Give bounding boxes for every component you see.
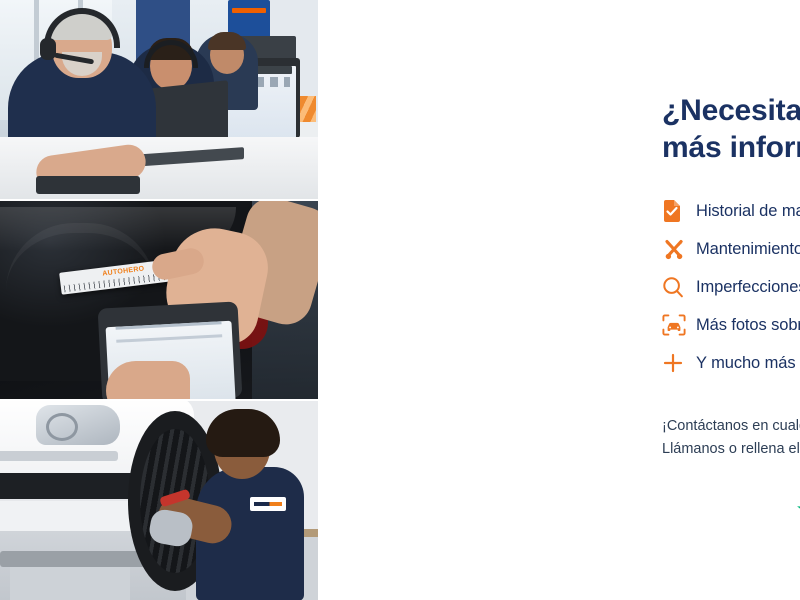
content-panel: ¿Necesitas más información? Estamos enca… <box>318 0 800 600</box>
magnifier-icon <box>662 276 696 298</box>
tools-icon <box>662 237 696 261</box>
photo-column: AUTOHERO <box>0 0 318 600</box>
photo-mechanic-inspecting-tire-on-lift <box>0 401 318 600</box>
feature-item-label: Mantenimiento realizado <box>696 240 800 259</box>
feature-item-y-mucho-mas: Y mucho más <box>662 344 800 382</box>
feature-list: Historial de mantenimientos M <box>662 192 800 382</box>
contact-line-1: ¡Contáctanos en cualquier momento para m… <box>662 415 800 438</box>
feature-item-label: Más fotos sobre el coche <box>696 316 800 335</box>
feature-item-label: Y mucho más <box>696 354 795 373</box>
trustpilot-widget[interactable]: Trustpilot Excelente EMPRESA VERIFICA <box>796 483 800 555</box>
autohero-polo-logo <box>250 497 286 511</box>
trustpilot-logo: Trustpilot <box>796 497 800 523</box>
plus-icon <box>662 352 696 374</box>
feature-item-mas-fotos-sobre-el-coche: Más fotos sobre el coche <box>662 306 800 344</box>
feature-item-label: Historial de mantenimientos <box>696 202 800 221</box>
photo-autohero-ruler-measuring-car-body: AUTOHERO <box>0 201 318 400</box>
photo-call-center-agents-with-headsets <box>0 0 318 199</box>
contact-line-2: Llámanos o rellena el formulario de cont… <box>662 438 800 461</box>
feature-item-historial-de-mantenimientos: Historial de mantenimientos <box>662 192 800 230</box>
page-title-line-2: más información? <box>662 129 800 166</box>
feature-item-imperfecciones: Imperfecciones <box>662 268 800 306</box>
car-photo-icon <box>662 314 696 336</box>
trustpilot-star-icon <box>796 497 800 523</box>
ruler-label-part-1: AUTO <box>102 268 124 277</box>
page-title-line-1: ¿Necesitas <box>662 94 800 127</box>
ruler-label-part-2: HERO <box>123 265 145 275</box>
page-title: ¿Necesitas más información? <box>662 92 800 166</box>
autohero-more-info-banner: AUTOHERO ¿Necesitas más información? <box>0 0 800 600</box>
feature-item-label: Imperfecciones <box>696 278 800 297</box>
feature-item-mantenimiento-realizado: Mantenimiento realizado <box>662 230 800 268</box>
clipboard-check-icon <box>662 199 696 223</box>
contact-paragraph: ¡Contáctanos en cualquier momento para m… <box>662 415 800 462</box>
